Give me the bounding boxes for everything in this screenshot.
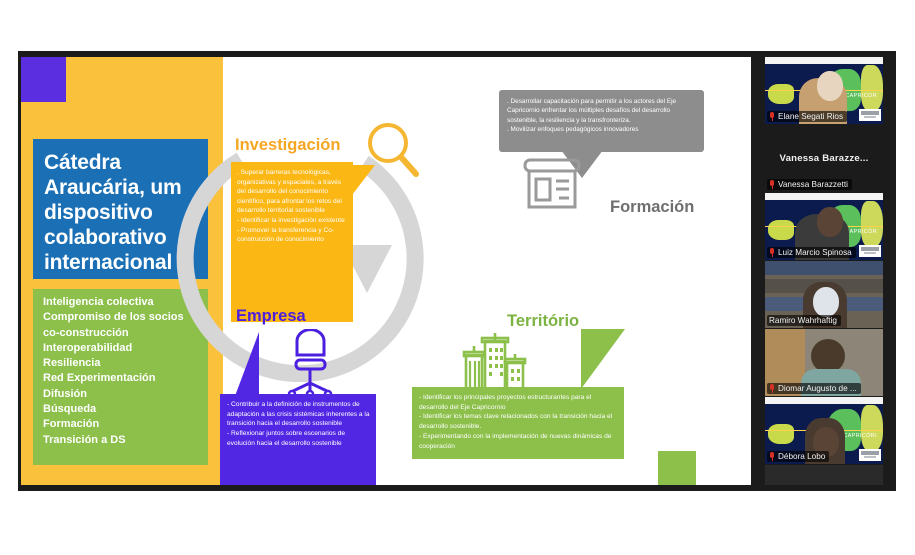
callout-box-empresa: - Contribuir a la definición de instrume… [220, 394, 376, 485]
participant-name: Ramiro Wahrhaftig [769, 316, 837, 325]
mic-muted-icon [769, 384, 775, 393]
mic-muted-icon [769, 112, 775, 121]
participant-tile[interactable]: O CAPRICÓR Luiz Marcio Spinosa [765, 193, 883, 260]
participant-name: Diomar Augusto de ... [778, 384, 857, 393]
participant-namebar: Diomar Augusto de ... [767, 383, 861, 394]
participant-name: Elane Segati Rios [778, 112, 843, 121]
list-item: Transición a DS [43, 433, 208, 448]
office-chair-icon [283, 329, 338, 399]
participant-tile[interactable]: Vanessa Barazze... Vanessa Barazzetti [765, 125, 883, 192]
participant-namebar: Vanessa Barazzetti [767, 179, 852, 190]
participant-namebar: Luiz Marcio Spinosa [767, 247, 856, 258]
participant-namebar: Débora Lobo [767, 451, 829, 462]
participant-tile[interactable]: IXO CAPRICÓRI Débora Lobo [765, 397, 883, 464]
callout-text-territorio: - Identificar los principales proyectos … [412, 387, 624, 451]
callout-pointer-empresa [235, 332, 259, 396]
video-feed [765, 465, 883, 485]
screen-root: Cátedra Araucária, um dispositivo colabo… [0, 0, 915, 555]
quadrant-label-investigacion: Investigación [235, 136, 340, 155]
participant-name: Débora Lobo [778, 452, 825, 461]
institution-logo [859, 449, 881, 461]
participant-tile[interactable]: Ramiro Wahrhaftig [765, 261, 883, 328]
participant-namebar: Ramiro Wahrhaftig [767, 315, 841, 326]
decor-green-square [658, 451, 696, 485]
decor-purple-square [21, 57, 66, 102]
quadrant-label-formacion: Formación [610, 198, 694, 217]
mic-muted-icon [769, 180, 775, 189]
callout-box-territorio: - Identificar los principales proyectos … [412, 387, 624, 459]
callout-pointer-territorio [581, 329, 625, 389]
shared-slide: Cátedra Araucária, um dispositivo colabo… [21, 57, 751, 485]
card-presentation-icon [521, 157, 583, 212]
quadrant-label-empresa: Empresa [236, 307, 306, 326]
institution-logo [859, 109, 881, 121]
callout-box-formacion: . Desarrollar capacitación para permitir… [499, 90, 704, 152]
participant-name-large: Vanessa Barazze... [780, 153, 869, 164]
mic-muted-icon [769, 452, 775, 461]
participant-namebar: Elane Segati Rios [767, 111, 847, 122]
participant-tile[interactable]: Diomar Augusto de ... [765, 329, 883, 396]
participant-tile[interactable]: CAPRICOR Elane Segati Rios [765, 57, 883, 124]
mic-muted-icon [769, 248, 775, 257]
callout-text-investigacion: . Superar barreras tecnológicas, organiz… [231, 162, 353, 245]
callout-text-empresa: - Contribuir a la definición de instrume… [220, 394, 376, 449]
participant-strip[interactable]: CAPRICOR Elane Segati Rios Vanessa Baraz… [765, 57, 885, 485]
participant-name: Luiz Marcio Spinosa [778, 248, 852, 257]
participant-tile-partial[interactable] [765, 465, 883, 485]
institution-logo [859, 245, 881, 257]
callout-box-investigacion: . Superar barreras tecnológicas, organiz… [231, 162, 353, 322]
participant-name: Vanessa Barazzetti [778, 180, 848, 189]
callout-text-formacion: . Desarrollar capacitación para permitir… [499, 90, 704, 135]
